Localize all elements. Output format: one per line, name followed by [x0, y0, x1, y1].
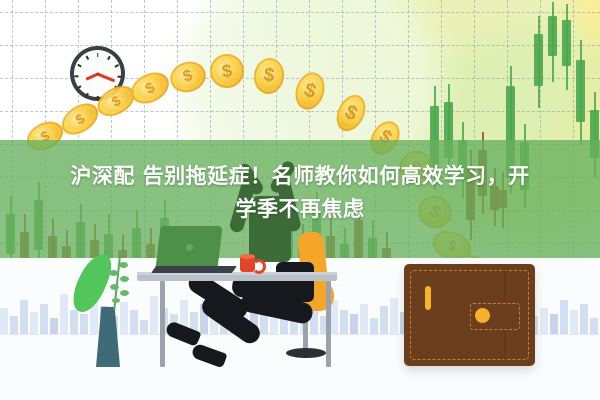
- skyline-bar: [560, 300, 568, 334]
- skyline-bar: [130, 310, 138, 334]
- skyline-bar: [150, 296, 158, 334]
- desk-leg-right: [326, 281, 331, 367]
- wallet-card-tab: [425, 286, 431, 310]
- laptop-logo-icon: [186, 244, 193, 251]
- skyline-bar: [350, 314, 358, 334]
- skyline-bar: [80, 314, 88, 334]
- skyline-bar: [10, 316, 18, 334]
- skyline-bar: [360, 304, 368, 334]
- desk-leg-left: [160, 281, 165, 367]
- skyline-bar: [390, 298, 398, 334]
- desk-top: [137, 272, 337, 281]
- mug-rim: [240, 254, 255, 259]
- skyline-bar: [570, 310, 578, 334]
- wallet-clasp-button: [475, 308, 490, 323]
- skyline-bar: [590, 318, 598, 334]
- plant-frond-1: [119, 262, 128, 268]
- plant-frond-3: [120, 276, 129, 282]
- person-hip: [276, 262, 314, 302]
- wallet: [404, 264, 535, 366]
- skyline-bar: [20, 300, 28, 334]
- plant-frond-5: [120, 290, 129, 296]
- skyline-bar: [340, 310, 348, 334]
- skyline-bar: [140, 320, 148, 334]
- plant-frond-2: [109, 270, 118, 276]
- banner-image: $$$$$$$$$$$$$$$: [0, 0, 600, 400]
- skyline-bar: [540, 308, 548, 334]
- headline-line-2: 学季不再焦虑: [0, 193, 600, 226]
- skyline-bar: [370, 318, 378, 334]
- skyline-bar: [0, 308, 8, 334]
- skyline-bar: [270, 318, 278, 334]
- skyline-bar: [120, 302, 128, 334]
- headline-text: 沪深配 告别拖延症！名师教你如何高效学习，开 学季不再焦虑: [0, 160, 600, 226]
- skyline-bar: [550, 314, 558, 334]
- skyline-bar: [60, 294, 68, 334]
- skyline-bar: [40, 304, 48, 334]
- skyline-bar: [30, 312, 38, 334]
- mug-handle: [252, 259, 266, 274]
- chair-base: [286, 348, 326, 358]
- skyline-bar: [380, 306, 388, 334]
- plant-frond-6: [112, 298, 120, 303]
- headline-line-1: 沪深配 告别拖延症！名师教你如何高效学习，开: [0, 160, 600, 193]
- skyline-bar: [50, 318, 58, 334]
- skyline-bar: [580, 304, 588, 334]
- skyline-bar: [70, 310, 78, 334]
- laptop-base: [151, 266, 237, 273]
- plant-frond-4: [110, 284, 119, 290]
